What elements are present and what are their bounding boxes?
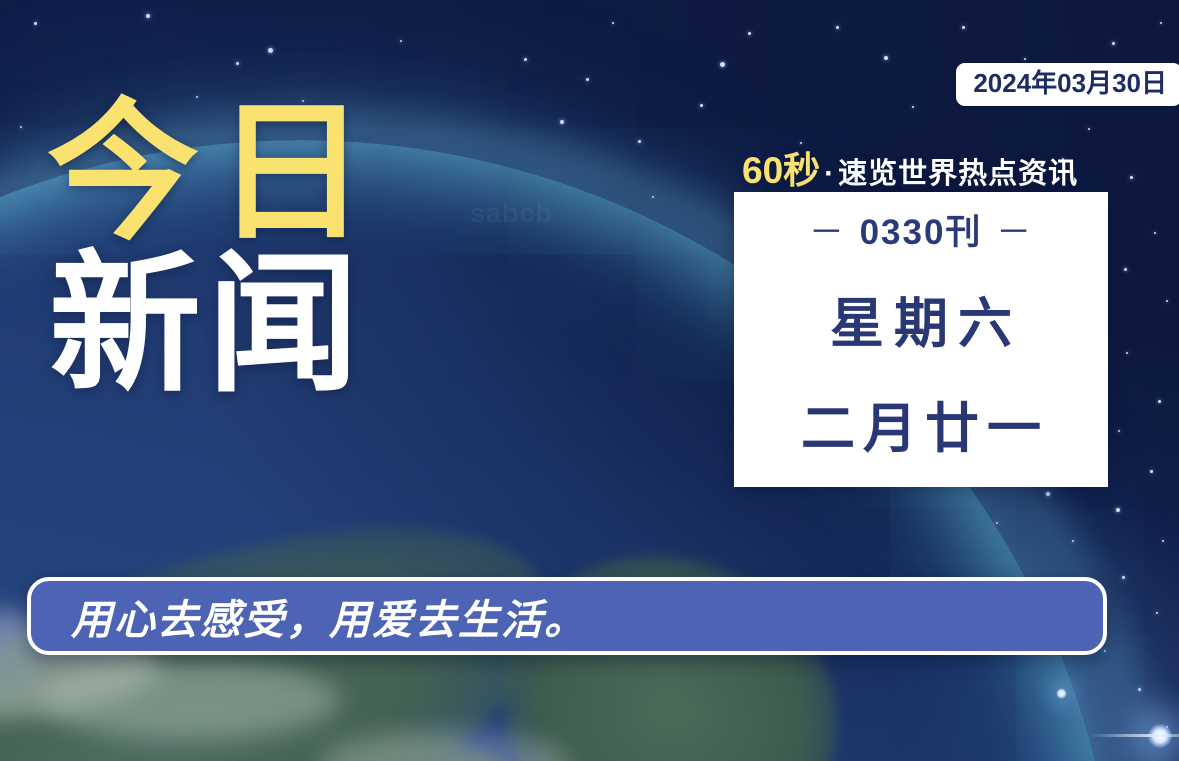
motto-text: 用心去感受，用爱去生活。 — [71, 586, 587, 646]
tagline-text: 速览世界热点资讯 — [838, 158, 1078, 190]
weekday-label: 星期六 — [820, 279, 1022, 358]
tagline: 60秒·速览世界热点资讯 — [742, 140, 1078, 194]
issue-dash-right: － — [994, 213, 1035, 252]
issue-card: － 0330刊 － 星期六 二月廿一 — [734, 192, 1108, 487]
page-title: 今日 新闻 — [47, 104, 383, 396]
issue-number: 0330刊 — [860, 213, 983, 252]
news-poster: sabcb 2024年03月30日 今日 新闻 60秒·速览世界热点资讯 － 0… — [0, 0, 1179, 761]
lunar-date-label: 二月廿一 — [793, 384, 1049, 463]
page-title-line2: 新闻 — [49, 256, 383, 396]
issue-line: － 0330刊 － — [807, 204, 1035, 255]
background-watermark: sabcb — [470, 198, 553, 229]
date-badge: 2024年03月30日 — [956, 63, 1179, 106]
issue-dash-left: － — [807, 213, 848, 252]
page-title-line1: 今日 — [47, 104, 383, 244]
tagline-seconds: 60秒 — [742, 150, 820, 191]
tagline-separator: · — [820, 157, 838, 190]
motto-banner: 用心去感受，用爱去生活。 — [27, 577, 1107, 655]
